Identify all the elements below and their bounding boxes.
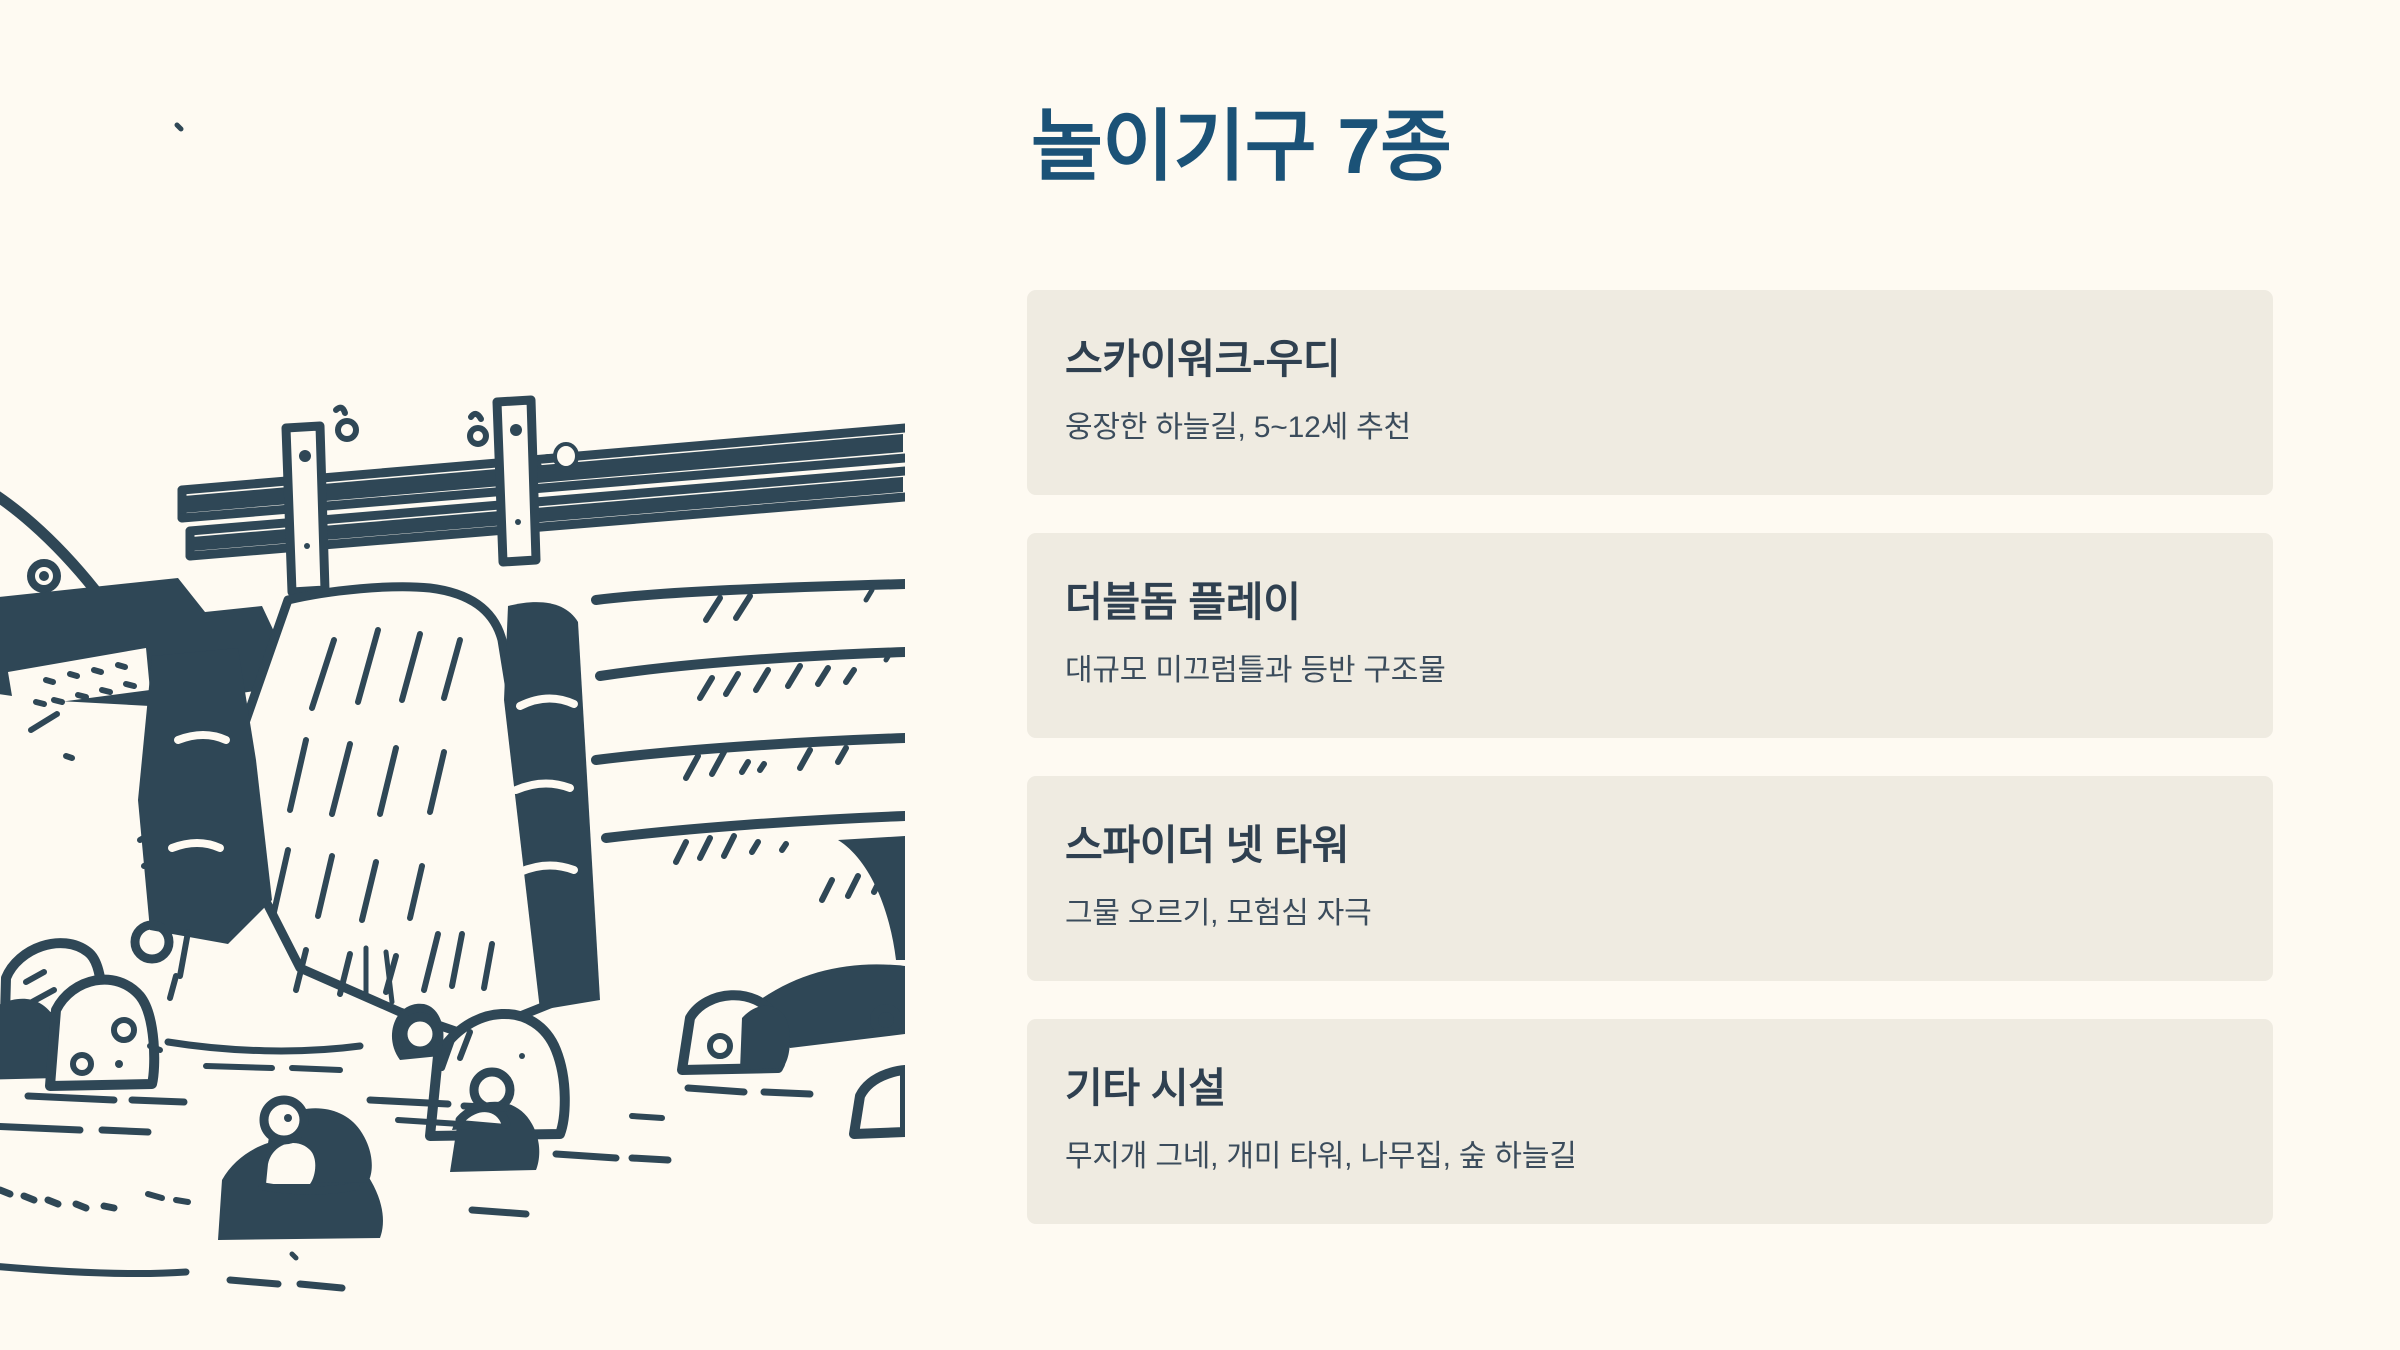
attraction-card-description: 무지개 그네, 개미 타워, 나무집, 숲 하늘길 (1065, 1137, 2273, 1178)
attraction-card[interactable]: 더블돔 플레이 대규모 미끄럼틀과 등반 구조물 (1027, 533, 2273, 738)
attraction-card[interactable]: 스파이더 넷 타워 그물 오르기, 모험심 자극 (1027, 776, 2273, 981)
attraction-card-title: 더블돔 플레이 (1065, 577, 2273, 628)
waterfall-illustration (0, 0, 905, 1350)
attraction-card-description: 그물 오르기, 모험심 자극 (1065, 894, 2273, 935)
attraction-card-title: 기타 시설 (1065, 1063, 2273, 1114)
attraction-card-title: 스파이더 넷 타워 (1065, 820, 2273, 871)
attraction-card-title: 스카이워크-우디 (1065, 334, 2273, 385)
content-pane: 놀이기구 7종 스카이워크-우디 웅장한 하늘길, 5~12세 추천 더블돔 플… (1027, 0, 2273, 1350)
attraction-card-description: 대규모 미끄럼틀과 등반 구조물 (1065, 651, 2273, 692)
attraction-card[interactable]: 스카이워크-우디 웅장한 하늘길, 5~12세 추천 (1027, 290, 2273, 495)
attraction-card-description: 웅장한 하늘길, 5~12세 추천 (1065, 408, 2273, 449)
slide-root: 놀이기구 7종 스카이워크-우디 웅장한 하늘길, 5~12세 추천 더블돔 플… (0, 0, 2400, 1350)
page-title: 놀이기구 7종 (1031, 104, 1451, 190)
attraction-card-list: 스카이워크-우디 웅장한 하늘길, 5~12세 추천 더블돔 플레이 대규모 미… (1027, 290, 2273, 1224)
attraction-card[interactable]: 기타 시설 무지개 그네, 개미 타워, 나무집, 숲 하늘길 (1027, 1019, 2273, 1224)
waterfall-illustration-svg (0, 0, 905, 1350)
